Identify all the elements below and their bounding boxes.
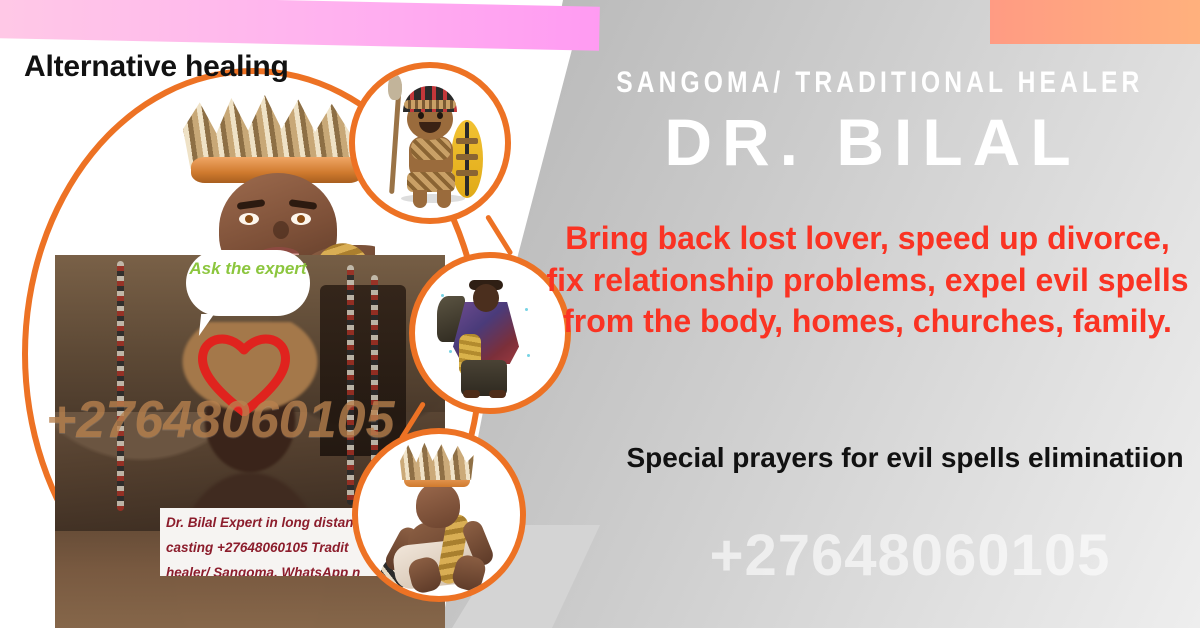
speech-bubble: Ask the expert [186,250,310,316]
shield-mark-2 [456,154,478,160]
warrior-vest [411,138,451,160]
healer-shoe-left [463,390,480,398]
bead-strand-right [347,265,354,505]
circle-image-dancer [352,428,526,602]
circle-image-warrior [349,62,511,224]
special-prayers-text: Special prayers for evil spells eliminat… [620,440,1190,477]
caption-line-1: Dr. Bilal Expert in long distan [160,508,382,533]
page-title: Alternative healing [24,50,289,84]
eyebrow-right [289,199,318,210]
warrior-skirt [407,172,455,192]
orange-banner-strip [990,0,1200,44]
speech-bubble-label: Ask the expert [186,258,310,281]
eyebrow-left [237,199,266,210]
phone-number-ghost: +27648060105 [620,522,1200,589]
healer-shoe-right [489,390,506,398]
zulu-warrior-cartoon-icon [355,68,505,218]
warrior-headband [404,100,456,109]
poster-canvas: Alternative healing Ask the expert [0,0,1200,628]
ground-shadow [401,194,465,203]
healer-head [473,284,499,312]
traditional-healer-figure-icon [415,258,565,408]
doctor-name-title: DR. BILAL [560,104,1185,180]
shield-mark-3 [456,170,478,176]
services-text: Bring back lost lover, speed up divorce,… [545,218,1190,343]
warrior-leg-right [437,190,451,208]
warrior-eye-right [437,112,443,119]
eye-right [291,213,311,225]
dancer-feather-crown [400,442,474,480]
kicker-title: SANGOMA/ TRADITIONAL HEALER [616,66,1129,100]
nose-shape [273,221,289,239]
spear-head-icon [388,74,402,100]
caption-line-2: casting +27648060105 Tradit [160,533,382,558]
dancer-face [416,482,460,528]
photo-caption-box: Dr. Bilal Expert in long distan casting … [160,508,382,576]
warrior-eye-left [418,112,424,119]
caption-line-3: healer/ Sangoma. WhatsApp n [160,558,382,576]
bead-strand-left [117,261,124,511]
shield-mark-1 [456,138,478,144]
eye-left [239,213,259,225]
warrior-leg-left [413,190,427,208]
zulu-dancer-illustration-icon [358,434,520,596]
